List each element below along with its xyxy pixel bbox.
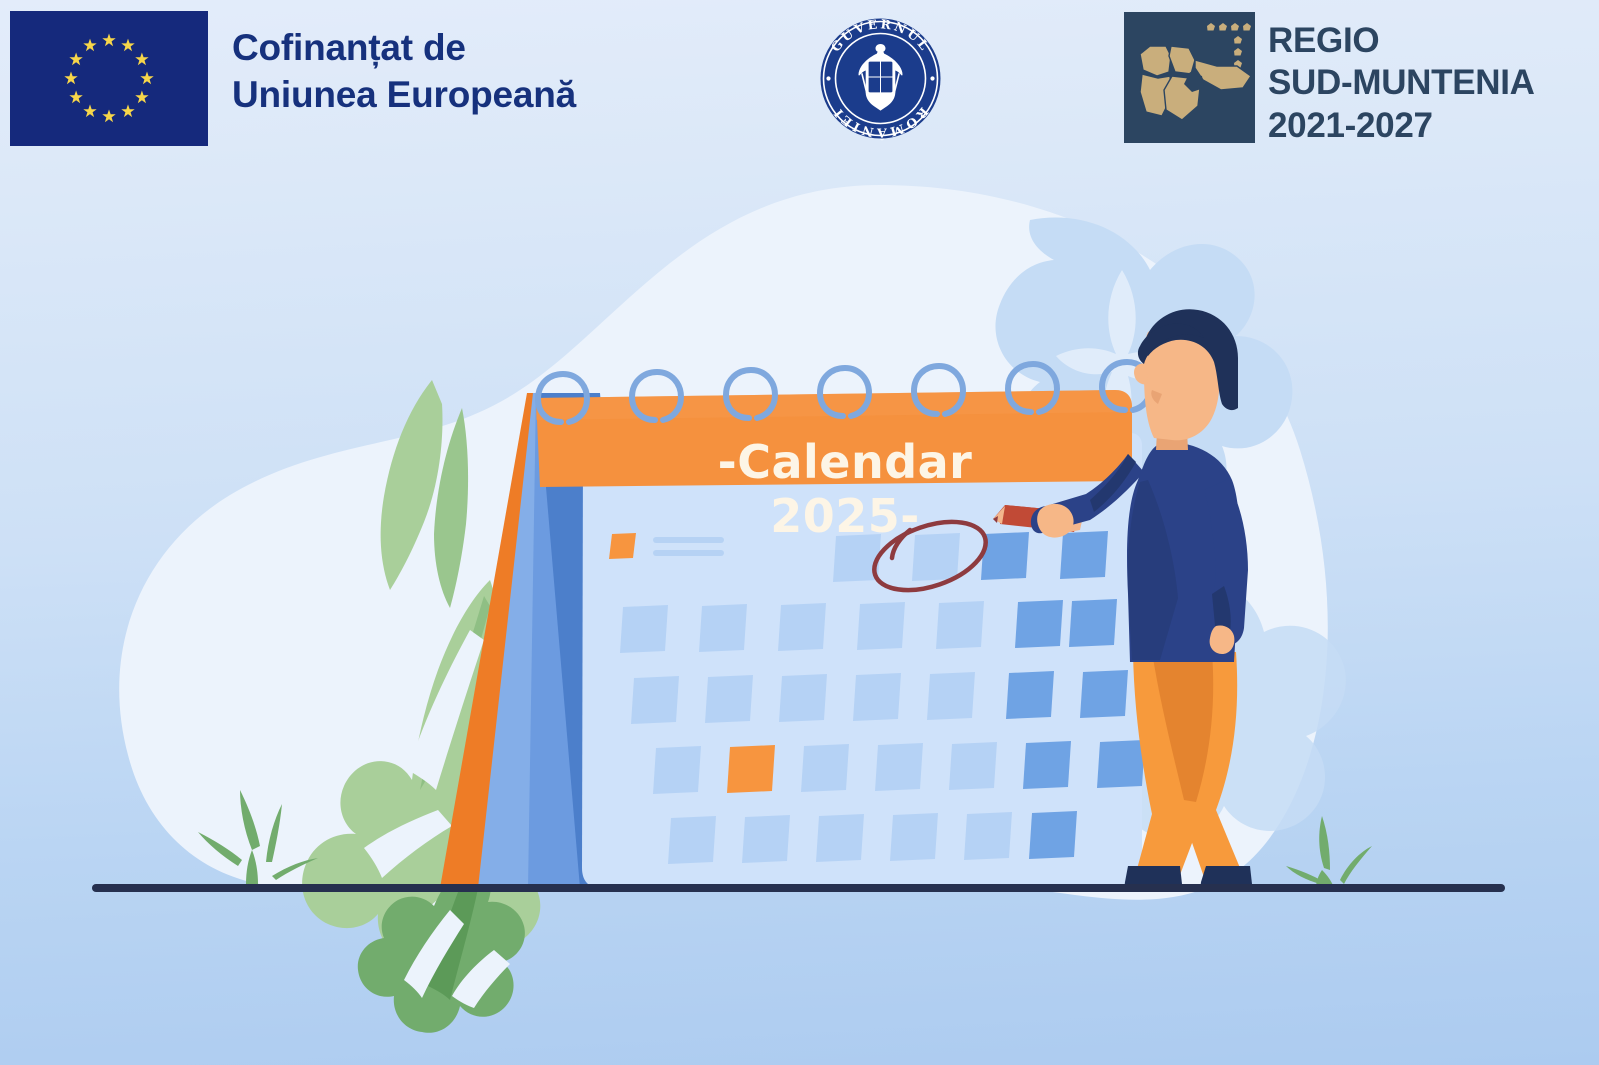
calendar-cell-weekend [1006,671,1054,719]
calendar-cell [936,601,984,649]
calendar-cell [964,812,1012,860]
calendar-cell [668,816,716,864]
legend-line-2 [653,550,724,556]
grass-sprig-right [1286,816,1372,888]
calendar-cell-highlight [727,745,775,793]
regio-line-1: REGIO [1268,20,1535,62]
regio-line-2: SUD-MUNTENIA [1268,62,1535,104]
calendar-cell [927,672,975,720]
calendar-2025-flat-illustration: -Calendar 2025- [0,150,1599,1065]
eu-funding-line-2: Uniunea Europeană [232,72,576,119]
calendar-cell-weekend [981,532,1029,580]
calendar-cell [857,602,905,650]
calendar-cell [631,676,679,724]
calendar-cell [620,605,668,653]
person-hand [1037,504,1073,538]
calendar-cell-weekend [1060,531,1108,579]
calendar-header-band [536,390,1132,487]
regio-line-3: 2021-2027 [1268,105,1535,147]
calendar-cell [778,603,826,651]
calendar-cell [779,674,827,722]
person-legs [1133,652,1245,880]
calendar-cell-weekend [1069,599,1117,647]
legend-line-1 [653,537,724,543]
calendar-cell-weekend [1080,670,1128,718]
legend-swatch [609,533,636,559]
ground-line [92,884,1505,892]
calendar-cell [816,814,864,862]
calendar-cell-weekend [1029,811,1077,859]
calendar-cell [890,813,938,861]
calendar-cell [705,675,753,723]
calendar-cell [742,815,790,863]
poster-canvas: Cofinanțat de Uniunea Europeană GUVERNUL… [0,0,1599,1065]
funding-logo-strip: Cofinanțat de Uniunea Europeană GUVERNUL… [0,0,1599,160]
calendar-cell [801,744,849,792]
eu-flag-icon [10,11,208,146]
calendar-cell-weekend [1097,740,1145,788]
calendar-cell-weekend [1023,741,1071,789]
eu-funding-line-1: Cofinanțat de [232,25,576,72]
calendar-cell [875,743,923,791]
sud-muntenia-map-icon [1124,12,1255,143]
calendar-cell [912,533,960,581]
eu-funding-label: Cofinanțat de Uniunea Europeană [232,25,576,118]
romania-government-seal-icon: GUVERNUL ROMÂNIEI [818,16,943,141]
calendar-cell [949,742,997,790]
calendar-cell [653,746,701,794]
calendar-cell [699,604,747,652]
regio-program-label: REGIO SUD-MUNTENIA 2021-2027 [1268,20,1535,147]
calendar-cell-weekend [1015,600,1063,648]
calendar-cell [853,673,901,721]
